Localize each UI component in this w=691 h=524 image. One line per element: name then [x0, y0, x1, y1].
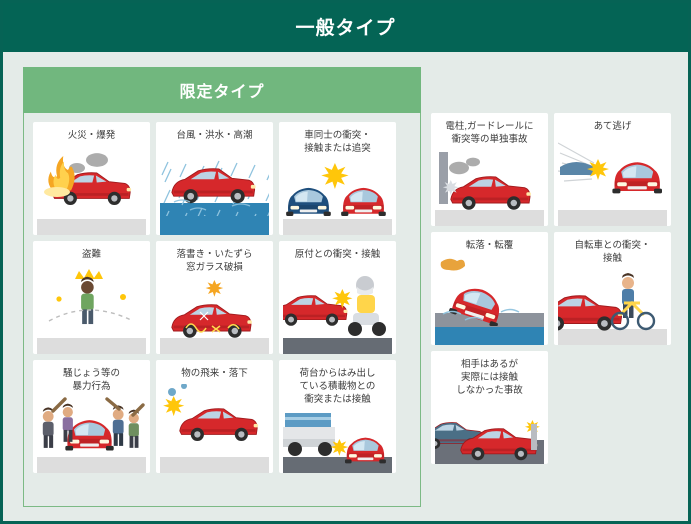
- ground-strip: [160, 457, 269, 473]
- ground-strip: [558, 210, 667, 226]
- ground-strip: [37, 219, 146, 235]
- illustration-car-flood: [160, 146, 269, 216]
- illustration-car-graffiti: [160, 278, 269, 348]
- limited-card-1[interactable]: 台風・洪水・高潮: [156, 122, 273, 235]
- limited-card-3[interactable]: 盗難: [33, 241, 150, 354]
- accident-illustration: [283, 409, 392, 473]
- accident-illustration: [283, 265, 392, 354]
- accident-type-label: 原付との衝突・接触: [295, 249, 380, 262]
- accident-illustration: [37, 397, 146, 473]
- accident-type-label: 車同士の衝突・ 接触または追突: [304, 130, 371, 156]
- body-area: 限定タイプ 火災・爆発 台風・洪水・高潮: [3, 52, 688, 524]
- accident-illustration: [160, 146, 269, 235]
- diagram-root: 一般タイプ 限定タイプ 火災・爆発 台風・洪水・高潮: [0, 0, 691, 524]
- accident-illustration: [558, 137, 667, 226]
- accident-illustration: [160, 384, 269, 473]
- accident-type-label: 台風・洪水・高潮: [176, 130, 252, 143]
- accident-type-label: 盗難: [82, 249, 101, 262]
- accident-type-label: あて逃げ: [594, 121, 632, 134]
- limited-card-7[interactable]: 物の飛来・落下: [156, 360, 273, 473]
- general-card-0[interactable]: 電柱,ガードレールに 衝突等の単独事故: [431, 113, 548, 226]
- general-type-card-grid: 電柱,ガードレールに 衝突等の単独事故 あて逃げ: [431, 113, 677, 464]
- accident-type-label: 自転車との衝突・ 接触: [575, 240, 651, 266]
- limited-card-5[interactable]: 原付との衝突・接触: [279, 241, 396, 354]
- ground-strip: [37, 338, 146, 354]
- general-type-banner: 一般タイプ: [0, 0, 691, 52]
- general-card-4[interactable]: 相手はあるが 実際には接触 しなかった事故: [431, 351, 548, 464]
- banner-title: 一般タイプ: [295, 13, 395, 40]
- limited-card-0[interactable]: 火災・爆発: [33, 122, 150, 235]
- limited-card-4[interactable]: 落書き・いたずら 窓ガラス破損: [156, 241, 273, 354]
- accident-type-label: 落書き・いたずら 窓ガラス破損: [176, 249, 252, 275]
- accident-type-label: 相手はあるが 実際には接触 しなかった事故: [456, 359, 523, 397]
- accident-illustration: [435, 400, 544, 464]
- ground-strip: [283, 338, 392, 354]
- accident-illustration: [283, 159, 392, 235]
- illustration-no-contact-accident: [435, 400, 544, 464]
- accident-type-label: 騒じょう等の 暴力行為: [63, 368, 120, 394]
- accident-illustration: [558, 269, 667, 345]
- general-card-1[interactable]: あて逃げ: [554, 113, 671, 226]
- accident-illustration: [160, 278, 269, 354]
- accident-illustration: [435, 150, 544, 226]
- limited-card-8[interactable]: 荷台からはみ出し ている積載物との 衝突または接触: [279, 360, 396, 473]
- illustration-car-fire: [37, 146, 146, 216]
- illustration-car-moped-crash: [283, 265, 392, 337]
- accident-illustration: [37, 265, 146, 354]
- accident-illustration: [37, 146, 146, 235]
- general-card-2[interactable]: 転落・転覆: [431, 232, 548, 345]
- illustration-car-theft: [37, 265, 146, 335]
- illustration-car-riot: [37, 397, 146, 461]
- limited-type-card-grid: 火災・爆発 台風・洪水・高潮 車同士: [24, 113, 420, 482]
- limited-type-title: 限定タイプ: [179, 78, 264, 102]
- illustration-car-pole-crash: [435, 150, 544, 220]
- general-card-3[interactable]: 自転車との衝突・ 接触: [554, 232, 671, 345]
- illustration-two-cars-crash: [283, 159, 392, 231]
- illustration-car-bicycle-crash: [558, 269, 667, 341]
- limited-card-2[interactable]: 車同士の衝突・ 接触または追突: [279, 122, 396, 235]
- limited-type-panel: 限定タイプ 火災・爆発 台風・洪水・高潮: [23, 67, 421, 507]
- illustration-hit-and-run: [558, 137, 667, 207]
- limited-type-header: 限定タイプ: [23, 67, 421, 113]
- accident-type-label: 荷台からはみ出し ている積載物との 衝突または接触: [299, 368, 375, 406]
- accident-type-label: 火災・爆発: [68, 130, 116, 143]
- illustration-car-truck-load: [283, 409, 392, 473]
- accident-type-label: 転落・転覆: [466, 240, 514, 253]
- accident-type-label: 電柱,ガードレールに 衝突等の単独事故: [445, 121, 533, 147]
- limited-card-6[interactable]: 騒じょう等の 暴力行為: [33, 360, 150, 473]
- accident-illustration: [435, 256, 544, 345]
- illustration-car-fall-water: [435, 256, 544, 326]
- accident-type-label: 物の飛来・落下: [181, 368, 248, 381]
- illustration-car-falling-object: [160, 384, 269, 450]
